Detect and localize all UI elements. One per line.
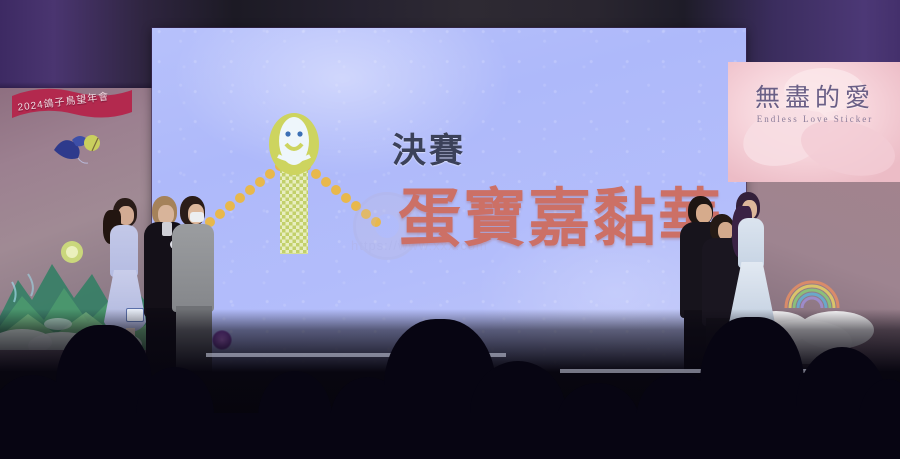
audience-foreground-mass bbox=[0, 413, 900, 459]
slide-main-title: 蛋寶嘉黏華 bbox=[398, 188, 723, 251]
endless-love-chinese: 無盡的愛 bbox=[740, 78, 890, 114]
bird-logo-icon bbox=[52, 130, 106, 166]
screenshot-root: 2024鴿子鳥望年會 bbox=[0, 0, 900, 459]
jacket bbox=[172, 224, 214, 312]
face-mask bbox=[190, 212, 204, 222]
endless-love-english: Endless Love Sticker bbox=[740, 114, 890, 124]
bodice bbox=[738, 218, 764, 268]
audience-silhouettes bbox=[0, 309, 900, 459]
slide-subtitle: 決賽 bbox=[392, 134, 466, 168]
torso bbox=[110, 225, 138, 277]
